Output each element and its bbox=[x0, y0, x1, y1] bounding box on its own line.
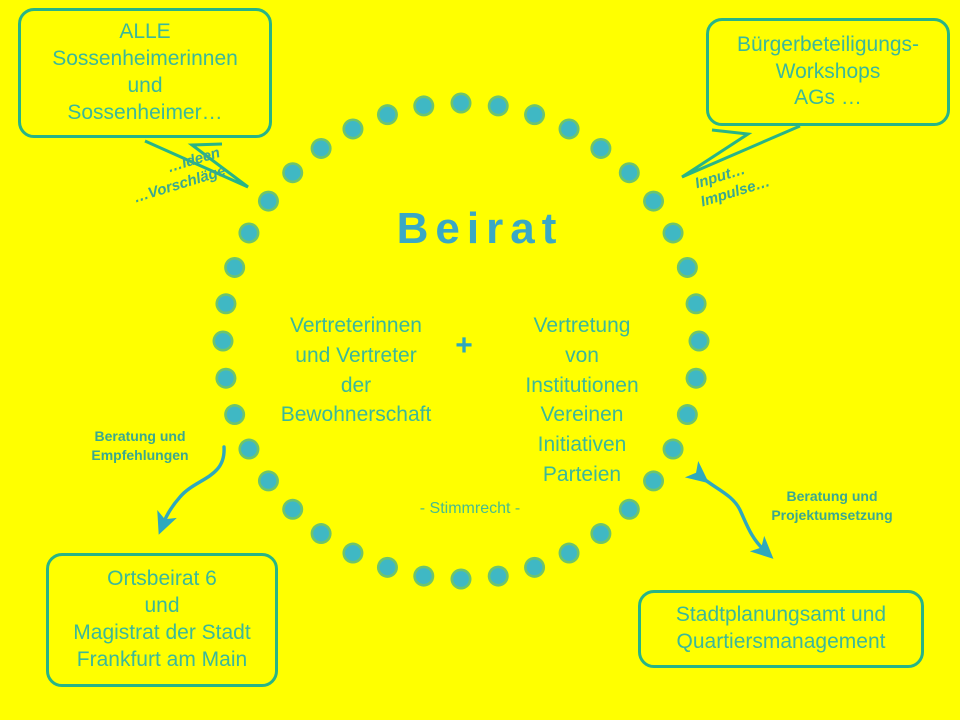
members-residents-column: Vertreterinnen und Vertreter der Bewohne… bbox=[266, 311, 446, 430]
members-institutions-line: Institutionen bbox=[492, 371, 672, 401]
members-institutions-line: Vertretung bbox=[492, 311, 672, 341]
members-institutions-line: von bbox=[492, 341, 672, 371]
box-ortsbeirat-line: Ortsbeirat 6 bbox=[55, 566, 269, 593]
callout-citizens-line: Sossenheimer… bbox=[27, 100, 263, 127]
arrow-label-line: Projektumsetzung bbox=[742, 506, 922, 525]
arrow-label-left: Beratung und Empfehlungen bbox=[70, 427, 210, 465]
callout-workshops-line: Bürgerbeteiligungs- bbox=[715, 32, 941, 59]
callout-citizens: ALLE Sossenheimerinnen und Sossenheimer… bbox=[18, 8, 272, 138]
callout-citizens-line: Sossenheimerinnen bbox=[27, 46, 263, 73]
callout-workshops-line: AGs … bbox=[715, 85, 941, 112]
box-ortsbeirat: Ortsbeirat 6 und Magistrat der Stadt Fra… bbox=[46, 553, 278, 687]
box-stadtplanung-line: Quartiersmanagement bbox=[647, 629, 915, 656]
arrow-label-line: Beratung und bbox=[742, 487, 922, 506]
box-ortsbeirat-line: Frankfurt am Main bbox=[55, 647, 269, 674]
diagram-canvas: Beirat Vertreterinnen und Vertreter der … bbox=[0, 0, 960, 720]
arrow-label-line: Empfehlungen bbox=[70, 446, 210, 465]
box-ortsbeirat-line: Magistrat der Stadt bbox=[55, 620, 269, 647]
members-institutions-line: Vereinen bbox=[492, 400, 672, 430]
callout-workshops-line: Workshops bbox=[715, 59, 941, 86]
box-ortsbeirat-line: und bbox=[55, 593, 269, 620]
members-residents-line: Vertreterinnen bbox=[266, 311, 446, 341]
box-stadtplanung-line: Stadtplanungsamt und bbox=[647, 602, 915, 629]
callout-citizens-line: und bbox=[27, 73, 263, 100]
callout-citizens-line: ALLE bbox=[27, 19, 263, 46]
members-institutions-line: Parteien bbox=[492, 460, 672, 490]
callout-citizens-tail-label: …Ideen …Vorschläge bbox=[126, 144, 228, 208]
arrow-label-right: Beratung und Projektumsetzung bbox=[742, 487, 922, 525]
arrow-label-line: Beratung und bbox=[70, 427, 210, 446]
members-residents-line: Bewohnerschaft bbox=[266, 400, 446, 430]
voting-rights-note: - Stimmrecht - bbox=[330, 500, 610, 518]
members-institutions-column: Vertretung von Institutionen Vereinen In… bbox=[492, 311, 672, 490]
box-stadtplanung: Stadtplanungsamt und Quartiersmanagement bbox=[638, 590, 924, 668]
members-institutions-line: Initiativen bbox=[492, 430, 672, 460]
members-residents-line: und Vertreter bbox=[266, 341, 446, 371]
page-title: Beirat bbox=[0, 204, 960, 254]
plus-icon: + bbox=[447, 331, 481, 361]
callout-workshops: Bürgerbeteiligungs- Workshops AGs … bbox=[706, 18, 950, 126]
members-residents-line: der bbox=[266, 371, 446, 401]
